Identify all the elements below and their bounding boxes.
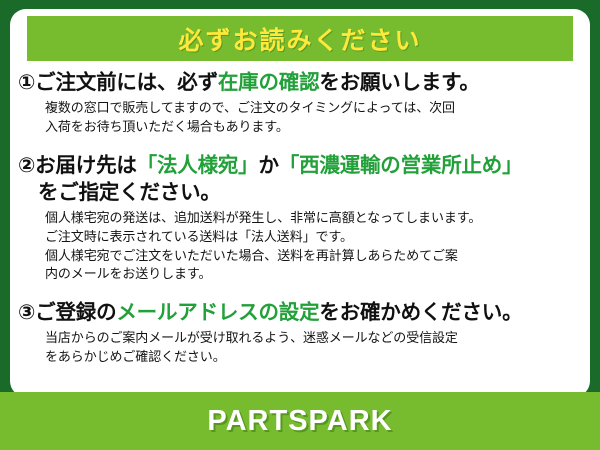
brand-logo: PARTSPARK	[207, 405, 392, 438]
notice-banner: 必ずお読みください ①ご注文前には、必ず在庫の確認をお願いします。 複数の窓口で…	[0, 0, 600, 450]
item-body-line: 内のメールをお送りします。	[45, 265, 582, 284]
item-body: 複数の窓口で販売してますので、ご注文のタイミングによっては、次回 入荷をお待ち頂…	[18, 96, 582, 137]
page-title: 必ずお読みください	[178, 21, 421, 57]
item-number: ②	[18, 154, 35, 177]
item-heading-highlight: 在庫の確認	[218, 71, 320, 94]
item-body-line: 複数の窓口で販売してますので、ご注文のタイミングによっては、次回	[45, 99, 582, 118]
notice-list: ①ご注文前には、必ず在庫の確認をお願いします。 複数の窓口で販売してますので、ご…	[10, 67, 590, 367]
item-body: 当店からのご案内メールが受け取れるよう、迷惑メールなどの受信設定 をあらかじめご…	[18, 326, 582, 367]
item-heading: ②お届け先は「法人様宛」か「西濃運輸の営業所止め」	[18, 152, 582, 179]
item-heading: ①ご注文前には、必ず在庫の確認をお願いします。	[18, 69, 582, 96]
list-item: ①ご注文前には、必ず在庫の確認をお願いします。 複数の窓口で販売してますので、ご…	[10, 69, 590, 137]
item-heading-after: をお願いします。	[319, 71, 479, 94]
item-body-line: 当店からのご案内メールが受け取れるよう、迷惑メールなどの受信設定	[45, 329, 582, 348]
item-body-line: 個人様宅宛の発送は、追加送料が発生し、非常に高額となってしまいます。	[45, 209, 582, 228]
item-heading-middle: か	[258, 154, 278, 177]
item-heading-after: をご指定ください。	[38, 181, 221, 204]
item-body-line: をあらかじめご確認ください。	[45, 348, 582, 367]
header-banner: 必ずお読みください	[27, 16, 573, 61]
item-heading-continued: をご指定ください。	[18, 179, 582, 206]
item-body: 個人様宅宛の発送は、追加送料が発生し、非常に高額となってしまいます。 ご注文時に…	[18, 206, 582, 284]
item-heading-before: ご注文前には、必ず	[35, 71, 218, 94]
footer-band: PARTSPARK	[0, 392, 600, 450]
item-heading: ③ご登録のメールアドレスの設定をお確かめください。	[18, 299, 582, 326]
item-heading-highlight: 「法人様宛」	[137, 154, 259, 177]
item-body-line: ご注文時に表示されている送料は「法人送料」です。	[45, 228, 582, 247]
item-heading-highlight-2: 「西濃運輸の営業所止め」	[279, 154, 523, 177]
item-heading-after: をお確かめください。	[319, 301, 522, 324]
content-panel: 必ずお読みください ①ご注文前には、必ず在庫の確認をお願いします。 複数の窓口で…	[10, 9, 590, 397]
list-item: ③ご登録のメールアドレスの設定をお確かめください。 当店からのご案内メールが受け…	[10, 299, 590, 367]
item-body-line: 個人様宅宛でご注文をいただいた場合、送料を再計算しあらためてご案	[45, 247, 582, 266]
item-heading-before: お届け先は	[35, 154, 137, 177]
item-body-line: 入荷をお待ち頂いただく場合もあります。	[45, 118, 582, 137]
item-heading-highlight: メールアドレスの設定	[116, 301, 319, 324]
item-heading-before: ご登録の	[35, 301, 116, 324]
item-number: ①	[18, 71, 35, 94]
item-number: ③	[18, 301, 35, 324]
list-item: ②お届け先は「法人様宛」か「西濃運輸の営業所止め」 をご指定ください。 個人様宅…	[10, 152, 590, 284]
